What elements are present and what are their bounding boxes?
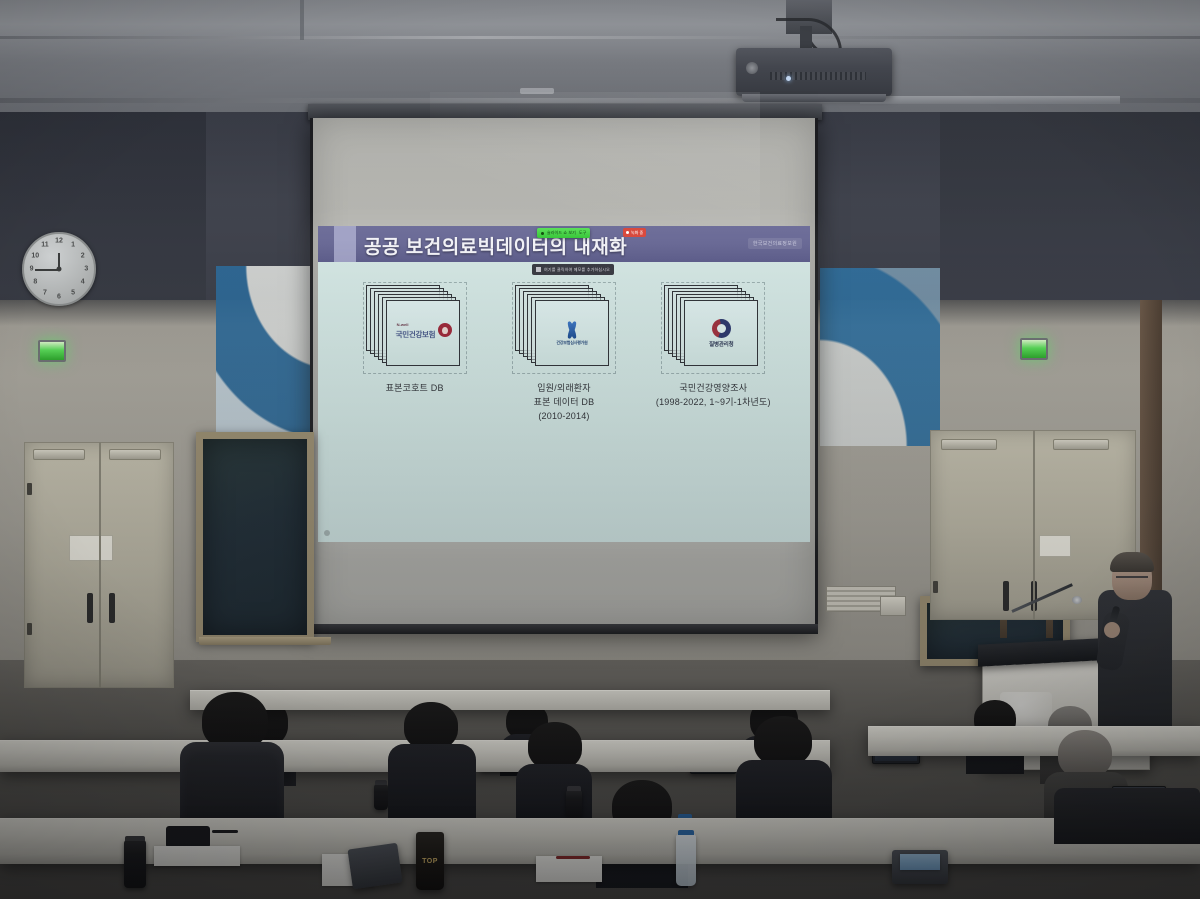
wall-clock: 12 1 2 3 4 5 6 7 8 9 10 11 bbox=[22, 232, 96, 306]
tablet[interactable] bbox=[347, 843, 402, 890]
db-sheet-front: 건강보험심사평가원 bbox=[535, 300, 609, 366]
projector-vent bbox=[770, 72, 866, 80]
banner-right bbox=[820, 268, 940, 446]
phone[interactable] bbox=[166, 826, 210, 848]
toolbar-cursor-icon bbox=[541, 232, 544, 235]
nhis-logo: N-well 국민건강보험 bbox=[395, 322, 451, 344]
door-hinge bbox=[27, 623, 32, 635]
desk-row-front bbox=[190, 690, 830, 710]
water-bottle[interactable] bbox=[676, 834, 696, 886]
person-head bbox=[754, 716, 812, 766]
db-caption: 국민건강영양조사 (1998-2022, 1~9기-1차년도) bbox=[656, 382, 771, 410]
paper-sheet bbox=[900, 854, 940, 870]
person-head bbox=[1058, 730, 1112, 778]
screen-bottom-bar bbox=[310, 624, 818, 634]
presenter-hair bbox=[1110, 552, 1154, 572]
kdca-logo-text: 질병관리청 bbox=[709, 340, 733, 348]
clock-number: 1 bbox=[71, 242, 75, 249]
tumbler[interactable] bbox=[124, 840, 146, 888]
bottle-cap bbox=[125, 836, 145, 841]
hira-logo: 건강보험심사평가원 bbox=[556, 321, 587, 346]
clock-number: 8 bbox=[33, 279, 37, 286]
clock-center-pin bbox=[57, 267, 62, 272]
clock-number: 2 bbox=[81, 252, 85, 259]
clock-number: 12 bbox=[55, 237, 63, 244]
recording-label: 녹화 중 bbox=[631, 230, 643, 236]
audience-member bbox=[180, 692, 284, 822]
bottle-cap bbox=[375, 780, 387, 785]
hira-mark-icon bbox=[564, 321, 580, 339]
projector-base bbox=[742, 94, 886, 102]
lecture-hall-scene: 12 1 2 3 4 5 6 7 8 9 10 11 공공 보건의료빅데이터의 … bbox=[0, 0, 1200, 899]
db-item-inpatient: 건강보험심사평가원 입원/외래환자 표본 데이터 DB (2010-2014) bbox=[499, 282, 629, 424]
door-split bbox=[1033, 430, 1035, 620]
chalk-tray bbox=[199, 637, 331, 645]
bottle-cap bbox=[678, 830, 694, 835]
chalkboard-left bbox=[196, 432, 314, 642]
door-closer bbox=[1053, 439, 1109, 450]
kdca-logo: 질병관리청 bbox=[709, 319, 733, 348]
slide-notes-tooltip[interactable]: 여기를 클릭하여 메모를 추가하십시오 bbox=[532, 264, 614, 275]
audience-member bbox=[388, 702, 476, 818]
db-item-nutrition-survey: 질병관리청 국민건강영양조사 (1998-2022, 1~9기-1차년도) bbox=[648, 282, 778, 410]
presentation-toolbar[interactable]: 슬라이드 쇼 보기 도구 bbox=[537, 228, 590, 238]
clock-number: 5 bbox=[71, 289, 75, 296]
paper-sheet bbox=[536, 856, 602, 882]
slide-header-accent bbox=[334, 226, 356, 262]
presentation-slide: 공공 보건의료빅데이터의 내재화 한국보건의료정보원 슬라이드 쇼 보기 도구 … bbox=[318, 226, 810, 542]
pen[interactable] bbox=[556, 856, 590, 859]
hira-logo-text: 건강보험심사평가원 bbox=[556, 340, 587, 346]
ceiling-slot bbox=[300, 0, 304, 40]
clock-number: 11 bbox=[41, 242, 48, 249]
door-handle[interactable] bbox=[87, 593, 93, 623]
slide-notes-label: 여기를 클릭하여 메모를 추가하십시오 bbox=[544, 267, 610, 273]
ceiling-seam bbox=[0, 36, 1200, 39]
nhis-logo-text: 국민건강보험 bbox=[396, 329, 436, 340]
person-body bbox=[388, 744, 476, 820]
kdca-taegeuk-icon bbox=[712, 319, 731, 338]
nhis-mark-icon bbox=[438, 323, 452, 337]
nhis-mark-inner bbox=[442, 327, 448, 334]
slide-corner-tag: 한국보건의료정보원 bbox=[748, 238, 802, 249]
door-hinge bbox=[933, 581, 938, 593]
bottle-cap bbox=[567, 786, 581, 791]
door-handle[interactable] bbox=[109, 593, 115, 623]
recording-badge: 녹화 중 bbox=[623, 228, 646, 237]
note-icon bbox=[536, 267, 541, 272]
slide-content: N-well 국민건강보험 표본코호트 DB bbox=[318, 282, 810, 522]
projector-led-icon bbox=[786, 76, 791, 81]
coffee-can[interactable]: TOP bbox=[416, 832, 444, 890]
door-closer bbox=[109, 449, 161, 460]
db-sheet-front: N-well 국민건강보험 bbox=[386, 300, 460, 366]
pen[interactable] bbox=[212, 830, 238, 833]
door-handle[interactable] bbox=[1003, 581, 1009, 611]
clock-number: 10 bbox=[31, 252, 39, 259]
exit-sign-icon bbox=[38, 340, 66, 362]
ceiling-duct bbox=[860, 96, 1120, 104]
audience-member bbox=[736, 716, 832, 816]
clock-minute-hand bbox=[35, 269, 59, 271]
db-stack: N-well 국민건강보험 bbox=[363, 282, 467, 374]
clock-number: 9 bbox=[30, 266, 34, 273]
right-wall-panel bbox=[940, 112, 1200, 312]
person-head bbox=[404, 702, 458, 750]
exit-sign-icon bbox=[1020, 338, 1048, 360]
clock-number: 4 bbox=[81, 279, 85, 286]
person-head bbox=[528, 722, 582, 770]
door-closer bbox=[941, 439, 997, 450]
presenter-hand bbox=[1104, 622, 1120, 638]
toolbar-label: 슬라이드 쇼 보기 bbox=[547, 230, 576, 236]
person-body bbox=[736, 760, 832, 822]
bag bbox=[1054, 788, 1200, 844]
record-dot-icon bbox=[626, 231, 629, 234]
door-sign bbox=[69, 535, 113, 561]
person-body bbox=[180, 742, 284, 828]
clock-number: 6 bbox=[57, 294, 61, 301]
door-split bbox=[99, 442, 101, 688]
db-stack: 건강보험심사평가원 bbox=[512, 282, 616, 374]
door-hinge bbox=[27, 483, 32, 495]
paper-sheet bbox=[154, 846, 240, 866]
db-caption: 표본코호트 DB bbox=[386, 382, 444, 396]
microphone-head-icon bbox=[1072, 596, 1082, 604]
slide-nav-dot[interactable] bbox=[324, 530, 330, 536]
glasses-icon bbox=[1116, 576, 1148, 582]
coffee-can-label: TOP bbox=[422, 858, 438, 865]
wall-control-box bbox=[880, 596, 906, 616]
tumbler[interactable] bbox=[566, 790, 582, 818]
db-caption: 입원/외래환자 표본 데이터 DB (2010-2014) bbox=[534, 382, 595, 424]
db-item-cohort: N-well 국민건강보험 표본코호트 DB bbox=[350, 282, 480, 396]
db-stack: 질병관리청 bbox=[661, 282, 765, 374]
ceiling-light bbox=[520, 88, 554, 94]
db-sheet-front: 질병관리청 bbox=[684, 300, 758, 366]
clock-number: 3 bbox=[84, 266, 88, 273]
clock-number: 7 bbox=[43, 289, 47, 296]
desk-row-middle-right bbox=[868, 726, 1200, 756]
door-closer bbox=[33, 449, 85, 460]
projector-lens-icon bbox=[746, 62, 758, 74]
toolbar-menu-label[interactable]: 도구 bbox=[579, 230, 587, 236]
nhis-logo-sub: N-well bbox=[397, 322, 409, 327]
tumbler[interactable] bbox=[374, 784, 388, 810]
door-sign bbox=[1039, 535, 1071, 557]
